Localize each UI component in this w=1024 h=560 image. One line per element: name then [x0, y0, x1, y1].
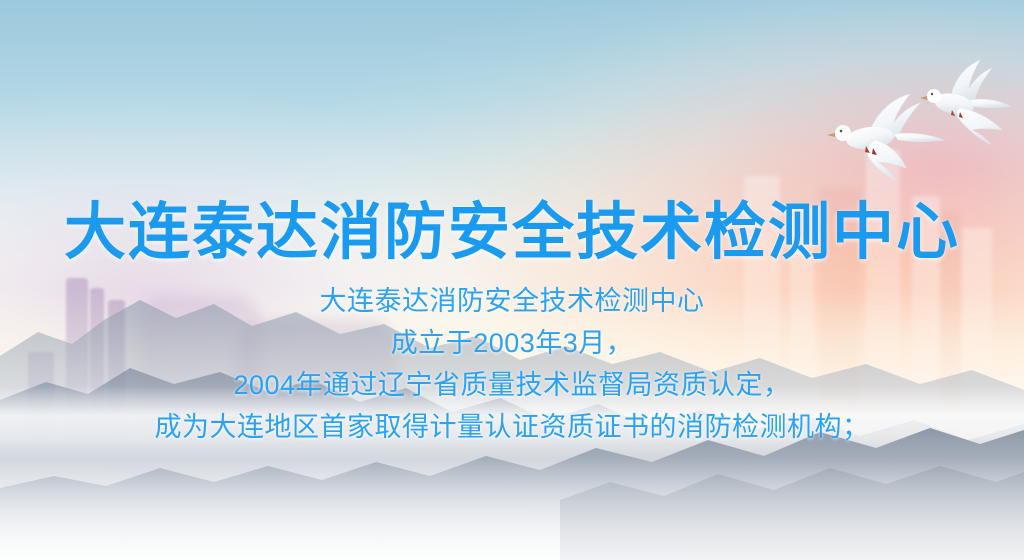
intro-line: 大连泰达消防安全技术检测中心	[0, 280, 1024, 322]
intro-line: 成立于2003年3月，	[0, 322, 1024, 364]
promo-banner: 大连泰达消防安全技术检测中心 大连泰达消防安全技术检测中心 成立于2003年3月…	[0, 0, 1024, 560]
page-title: 大连泰达消防安全技术检测中心	[0, 200, 1024, 267]
intro-line: 2004年通过辽宁省质量技术监督局资质认定，	[0, 364, 1024, 406]
intro-line: 成为大连地区首家取得计量认证资质证书的消防检测机构；	[0, 406, 1024, 448]
intro-paragraph: 大连泰达消防安全技术检测中心 成立于2003年3月， 2004年通过辽宁省质量技…	[0, 280, 1024, 448]
dove-right	[910, 58, 1022, 150]
